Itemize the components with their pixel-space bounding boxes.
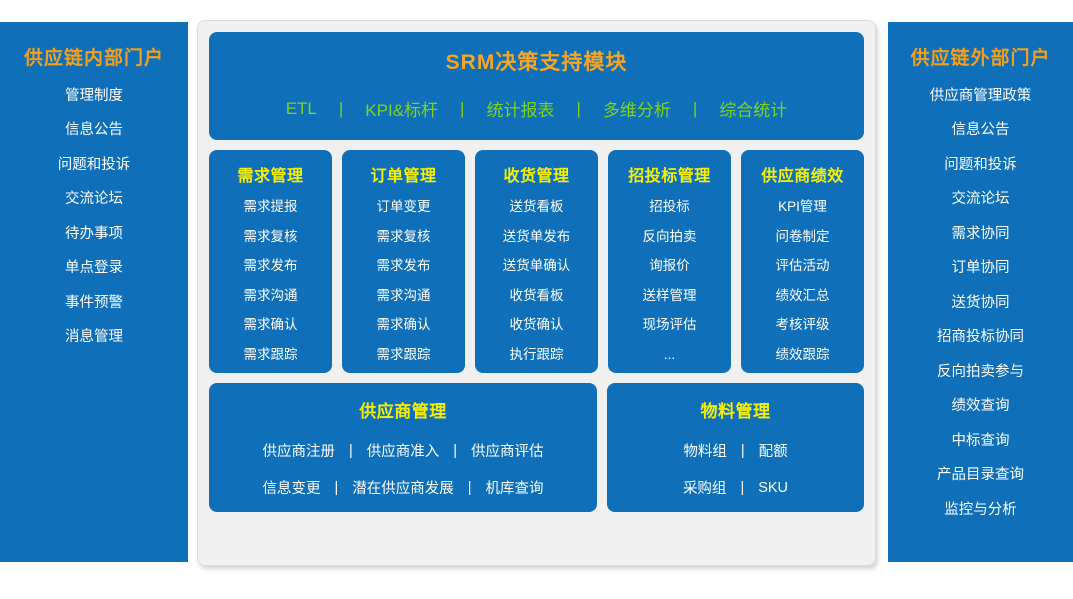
portal-item-internal-0[interactable]: 管理制度 xyxy=(8,89,180,104)
module-item-4-3[interactable]: 绩效汇总 xyxy=(745,289,860,303)
module-title-4: 供应商绩效 xyxy=(745,162,860,186)
external-portal-title: 供应链外部门户 xyxy=(896,48,1065,71)
module-item-1-1[interactable]: 需求复核 xyxy=(346,230,461,244)
panel-link-material-0-1[interactable]: 配额 xyxy=(745,440,802,461)
module-card-demand-management: 需求管理 需求提报 需求复核 需求发布 需求沟通 需求确认 需求跟踪 xyxy=(209,150,332,373)
panel-link-supplier-1-0[interactable]: 信息变更 xyxy=(248,477,334,498)
portal-item-external-4[interactable]: 需求协同 xyxy=(896,227,1065,242)
panel-link-supplier-1-2[interactable]: 机库查询 xyxy=(472,477,558,498)
module-item-2-0[interactable]: 送货看板 xyxy=(479,200,594,214)
module-item-3-3[interactable]: 送样管理 xyxy=(612,289,727,303)
module-title-1: 订单管理 xyxy=(346,162,461,186)
panel-row-supplier-1: 信息变更 | 潜在供应商发展 | 机库查询 xyxy=(219,477,587,498)
module-item-4-4[interactable]: 考核评级 xyxy=(745,318,860,332)
module-item-3-0[interactable]: 招投标 xyxy=(612,200,727,214)
panel-row-material-0: 物料组 | 配额 xyxy=(617,440,854,461)
portal-item-external-6[interactable]: 送货协同 xyxy=(896,296,1065,311)
portal-item-external-3[interactable]: 交流论坛 xyxy=(896,192,1065,207)
portal-item-internal-2[interactable]: 问题和投诉 xyxy=(8,158,180,173)
module-title-2: 收货管理 xyxy=(479,162,594,186)
page-root: 供应链内部门户 管理制度 信息公告 问题和投诉 交流论坛 待办事项 单点登录 事… xyxy=(0,0,1073,599)
panel-link-supplier-0-1[interactable]: 供应商准入 xyxy=(353,440,454,461)
module-item-3-4[interactable]: 现场评估 xyxy=(612,318,727,332)
module-title-0: 需求管理 xyxy=(213,162,328,186)
srm-link-kpi[interactable]: KPI&标杆 xyxy=(343,96,460,121)
panel-link-supplier-0-2[interactable]: 供应商评估 xyxy=(457,440,558,461)
portal-item-external-2[interactable]: 问题和投诉 xyxy=(896,158,1065,173)
module-card-receiving-management: 收货管理 送货看板 送货单发布 送货单确认 收货看板 收货确认 执行跟踪 xyxy=(475,150,598,373)
module-item-1-5[interactable]: 需求跟踪 xyxy=(346,348,461,362)
module-item-4-5[interactable]: 绩效跟踪 xyxy=(745,348,860,362)
module-item-1-0[interactable]: 订单变更 xyxy=(346,200,461,214)
portal-item-external-1[interactable]: 信息公告 xyxy=(896,123,1065,138)
bottom-panel-row: 供应商管理 供应商注册 | 供应商准入 | 供应商评估 信息变更 | 潜在供应商… xyxy=(209,383,864,512)
portal-item-internal-4[interactable]: 待办事项 xyxy=(8,227,180,242)
panel-supplier-management: 供应商管理 供应商注册 | 供应商准入 | 供应商评估 信息变更 | 潜在供应商… xyxy=(209,383,597,512)
module-title-3: 招投标管理 xyxy=(612,162,727,186)
srm-main-container: SRM决策支持模块 ETL | KPI&标杆 | 统计报表 | 多维分析 | 综… xyxy=(197,20,876,566)
module-item-2-4[interactable]: 收货确认 xyxy=(479,318,594,332)
module-item-1-4[interactable]: 需求确认 xyxy=(346,318,461,332)
module-item-0-2[interactable]: 需求发布 xyxy=(213,259,328,273)
portal-item-external-9[interactable]: 绩效查询 xyxy=(896,399,1065,414)
panel-link-material-1-0[interactable]: 采购组 xyxy=(669,477,741,498)
panel-row-supplier-0: 供应商注册 | 供应商准入 | 供应商评估 xyxy=(219,440,587,461)
module-item-2-5[interactable]: 执行跟踪 xyxy=(479,348,594,362)
module-item-2-1[interactable]: 送货单发布 xyxy=(479,230,594,244)
panel-material-management: 物料管理 物料组 | 配额 采购组 | SKU xyxy=(607,383,864,512)
portal-item-external-10[interactable]: 中标查询 xyxy=(896,434,1065,449)
panel-link-material-0-0[interactable]: 物料组 xyxy=(669,440,741,461)
panel-title-supplier: 供应商管理 xyxy=(219,397,587,422)
portal-item-internal-7[interactable]: 消息管理 xyxy=(8,330,180,345)
srm-link-multidimensional-analysis[interactable]: 多维分析 xyxy=(581,96,693,121)
module-item-4-0[interactable]: KPI管理 xyxy=(745,200,860,214)
module-item-0-3[interactable]: 需求沟通 xyxy=(213,289,328,303)
srm-link-comprehensive-statistics[interactable]: 综合统计 xyxy=(697,96,809,121)
module-item-3-1[interactable]: 反向拍卖 xyxy=(612,230,727,244)
module-card-order-management: 订单管理 订单变更 需求复核 需求发布 需求沟通 需求确认 需求跟踪 xyxy=(342,150,465,373)
module-item-1-2[interactable]: 需求发布 xyxy=(346,259,461,273)
srm-module-title: SRM决策支持模块 xyxy=(219,46,854,76)
portal-item-internal-6[interactable]: 事件预警 xyxy=(8,296,180,311)
panel-link-supplier-1-1[interactable]: 潜在供应商发展 xyxy=(338,477,468,498)
module-item-1-3[interactable]: 需求沟通 xyxy=(346,289,461,303)
portal-item-external-0[interactable]: 供应商管理政策 xyxy=(896,89,1065,104)
portal-item-external-5[interactable]: 订单协同 xyxy=(896,261,1065,276)
portal-item-internal-3[interactable]: 交流论坛 xyxy=(8,192,180,207)
module-card-supplier-performance: 供应商绩效 KPI管理 问卷制定 评估活动 绩效汇总 考核评级 绩效跟踪 xyxy=(741,150,864,373)
portal-item-external-7[interactable]: 招商投标协同 xyxy=(896,330,1065,345)
portal-item-internal-5[interactable]: 单点登录 xyxy=(8,261,180,276)
module-item-4-2[interactable]: 评估活动 xyxy=(745,259,860,273)
srm-link-row: ETL | KPI&标杆 | 统计报表 | 多维分析 | 综合统计 xyxy=(219,96,854,121)
srm-link-statistics-report[interactable]: 统计报表 xyxy=(464,96,576,121)
panel-link-supplier-0-0[interactable]: 供应商注册 xyxy=(248,440,349,461)
internal-portal-title: 供应链内部门户 xyxy=(8,48,180,71)
module-column-row: 需求管理 需求提报 需求复核 需求发布 需求沟通 需求确认 需求跟踪 订单管理 … xyxy=(209,150,864,373)
module-item-0-5[interactable]: 需求跟踪 xyxy=(213,348,328,362)
external-portal-list: 供应商管理政策 信息公告 问题和投诉 交流论坛 需求协同 订单协同 送货协同 招… xyxy=(896,89,1065,518)
panel-link-material-1-1[interactable]: SKU xyxy=(744,480,802,496)
module-item-0-0[interactable]: 需求提报 xyxy=(213,200,328,214)
portal-item-external-11[interactable]: 产品目录查询 xyxy=(896,468,1065,483)
external-portal-panel: 供应链外部门户 供应商管理政策 信息公告 问题和投诉 交流论坛 需求协同 订单协… xyxy=(888,22,1073,562)
srm-decision-support-header: SRM决策支持模块 ETL | KPI&标杆 | 统计报表 | 多维分析 | 综… xyxy=(209,32,864,140)
module-item-3-2[interactable]: 询报价 xyxy=(612,259,727,273)
module-item-0-4[interactable]: 需求确认 xyxy=(213,318,328,332)
portal-item-internal-1[interactable]: 信息公告 xyxy=(8,123,180,138)
module-item-2-2[interactable]: 送货单确认 xyxy=(479,259,594,273)
internal-portal-list: 管理制度 信息公告 问题和投诉 交流论坛 待办事项 单点登录 事件预警 消息管理 xyxy=(8,89,180,345)
module-item-4-1[interactable]: 问卷制定 xyxy=(745,230,860,244)
panel-row-material-1: 采购组 | SKU xyxy=(617,477,854,498)
module-item-2-3[interactable]: 收货看板 xyxy=(479,289,594,303)
module-item-0-1[interactable]: 需求复核 xyxy=(213,230,328,244)
module-card-bidding-management: 招投标管理 招投标 反向拍卖 询报价 送样管理 现场评估 ... xyxy=(608,150,731,373)
portal-item-external-12[interactable]: 监控与分析 xyxy=(896,503,1065,518)
portal-item-external-8[interactable]: 反向拍卖参与 xyxy=(896,365,1065,380)
module-item-3-5[interactable]: ... xyxy=(612,348,727,362)
internal-portal-panel: 供应链内部门户 管理制度 信息公告 问题和投诉 交流论坛 待办事项 单点登录 事… xyxy=(0,22,188,562)
panel-title-material: 物料管理 xyxy=(617,397,854,422)
srm-link-etl[interactable]: ETL xyxy=(264,99,339,119)
